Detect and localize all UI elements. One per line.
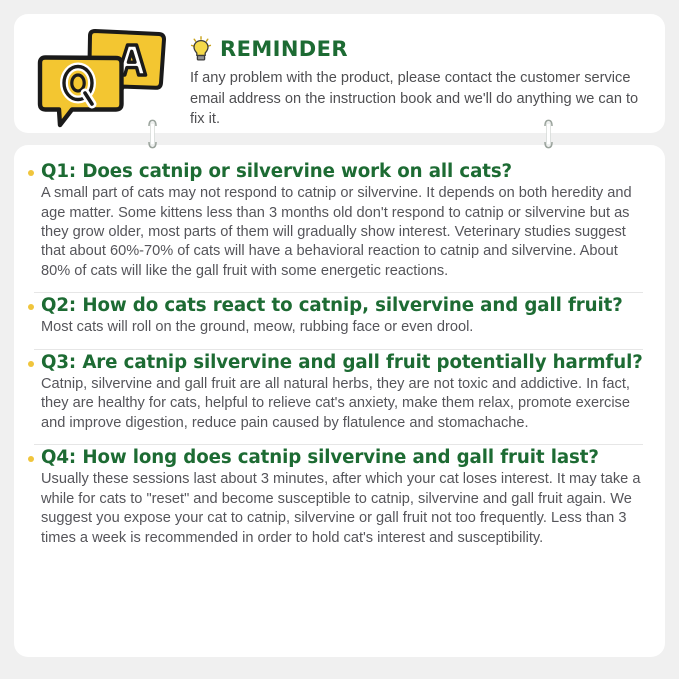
faq-answer-q3: Catnip, silvervine and gall fruit are al… xyxy=(28,375,647,433)
reminder-body: REMINDER If any problem with the product… xyxy=(184,26,649,130)
faq-answer-q2: Most cats will roll on the ground, meow,… xyxy=(28,318,647,337)
faq-card: Q1: Does catnip or silvervine work on al… xyxy=(14,145,665,657)
bullet-dot-icon xyxy=(28,304,34,310)
bullet-dot-icon xyxy=(28,361,34,367)
binding-ring-right xyxy=(543,117,554,151)
reminder-title-row: REMINDER xyxy=(190,36,649,62)
bullet-dot-icon xyxy=(28,456,34,462)
faq-answer-q4: Usually these sessions last about 3 minu… xyxy=(28,470,647,548)
reminder-card: REMINDER If any problem with the product… xyxy=(14,14,665,133)
binding-ring-left xyxy=(147,117,158,151)
reminder-title: REMINDER xyxy=(220,39,348,60)
bullet-dot-icon xyxy=(28,170,34,176)
qa-speech-bubbles-icon xyxy=(28,28,184,132)
faq-question-row-q3: Q3: Are catnip silvervine and gall fruit… xyxy=(28,352,647,374)
faq-question-row-q1: Q1: Does catnip or silvervine work on al… xyxy=(28,161,647,183)
faq-question-q4: Q4: How long does catnip silvervine and … xyxy=(41,447,599,469)
faq-question-q1: Q1: Does catnip or silvervine work on al… xyxy=(41,161,512,183)
faq-question-q2: Q2: How do cats react to catnip, silverv… xyxy=(41,295,623,317)
faq-question-row-q2: Q2: How do cats react to catnip, silverv… xyxy=(28,295,647,317)
faq-question-row-q4: Q4: How long does catnip silvervine and … xyxy=(28,447,647,469)
faq-page: REMINDER If any problem with the product… xyxy=(0,0,679,679)
faq-item-q4: Q4: How long does catnip silvervine and … xyxy=(28,445,647,548)
reminder-text: If any problem with the product, please … xyxy=(190,68,649,130)
lightbulb-icon xyxy=(190,36,212,62)
faq-answer-q1: A small part of cats may not respond to … xyxy=(28,184,647,281)
faq-item-q2: Q2: How do cats react to catnip, silverv… xyxy=(28,293,647,338)
faq-item-q3: Q3: Are catnip silvervine and gall fruit… xyxy=(28,350,647,433)
faq-question-q3: Q3: Are catnip silvervine and gall fruit… xyxy=(41,352,643,374)
faq-item-q1: Q1: Does catnip or silvervine work on al… xyxy=(28,159,647,281)
